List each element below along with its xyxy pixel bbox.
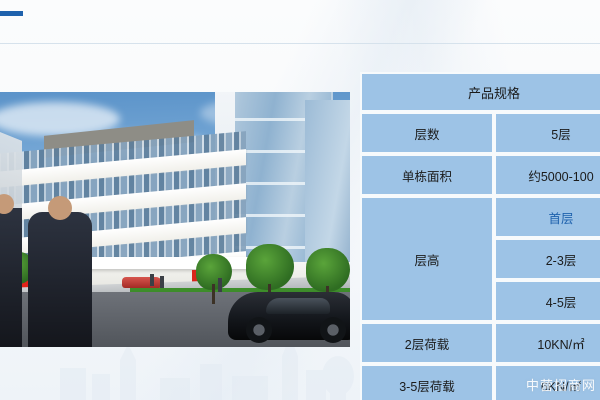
pedestrian bbox=[160, 276, 164, 288]
spec-value-floors: 5层 bbox=[494, 112, 600, 154]
table-row: 单栋面积 约5000-100 bbox=[360, 154, 600, 196]
header-divider-rule bbox=[0, 43, 600, 44]
pedestrian bbox=[218, 278, 222, 292]
spec-value-floor-height-1: 首层 bbox=[494, 196, 600, 238]
spec-label-load-floor2: 2层荷载 bbox=[360, 322, 494, 364]
building-rendering-image: A3 bbox=[0, 92, 350, 347]
spec-label-load-floor3-5: 3-5层荷载 bbox=[360, 364, 494, 400]
foreground-person-left bbox=[0, 208, 22, 347]
table-row: 2层荷载 10KN/㎡ bbox=[360, 322, 600, 364]
spec-value-load-floor2: 10KN/㎡ bbox=[494, 322, 600, 364]
product-spec-table: 产品规格 层数 5层 单栋面积 约5000-100 层高 首层 2-3层 4-5… bbox=[360, 72, 600, 400]
spec-label-single-area: 单栋面积 bbox=[360, 154, 494, 196]
slide-page: A3 bbox=[0, 0, 600, 400]
site-watermark: 中营招商网 bbox=[526, 375, 596, 394]
red-car bbox=[122, 277, 162, 288]
table-row-header: 产品规格 bbox=[360, 72, 600, 112]
spec-value-single-area: 约5000-100 bbox=[494, 154, 600, 196]
spec-label-floor-height: 层高 bbox=[360, 196, 494, 322]
foreground-car bbox=[228, 292, 350, 340]
spec-label-floors: 层数 bbox=[360, 112, 494, 154]
table-row: 层高 首层 bbox=[360, 196, 600, 238]
pedestrian bbox=[150, 274, 154, 286]
spec-value-floor-height-2: 2-3层 bbox=[494, 238, 600, 280]
spec-value-floor-height-3: 4-5层 bbox=[494, 280, 600, 322]
spec-table-title: 产品规格 bbox=[360, 72, 600, 112]
foreground-person-right bbox=[28, 212, 92, 347]
tree bbox=[196, 254, 232, 302]
table-row: 层数 5层 bbox=[360, 112, 600, 154]
header-accent-bar bbox=[0, 11, 23, 16]
